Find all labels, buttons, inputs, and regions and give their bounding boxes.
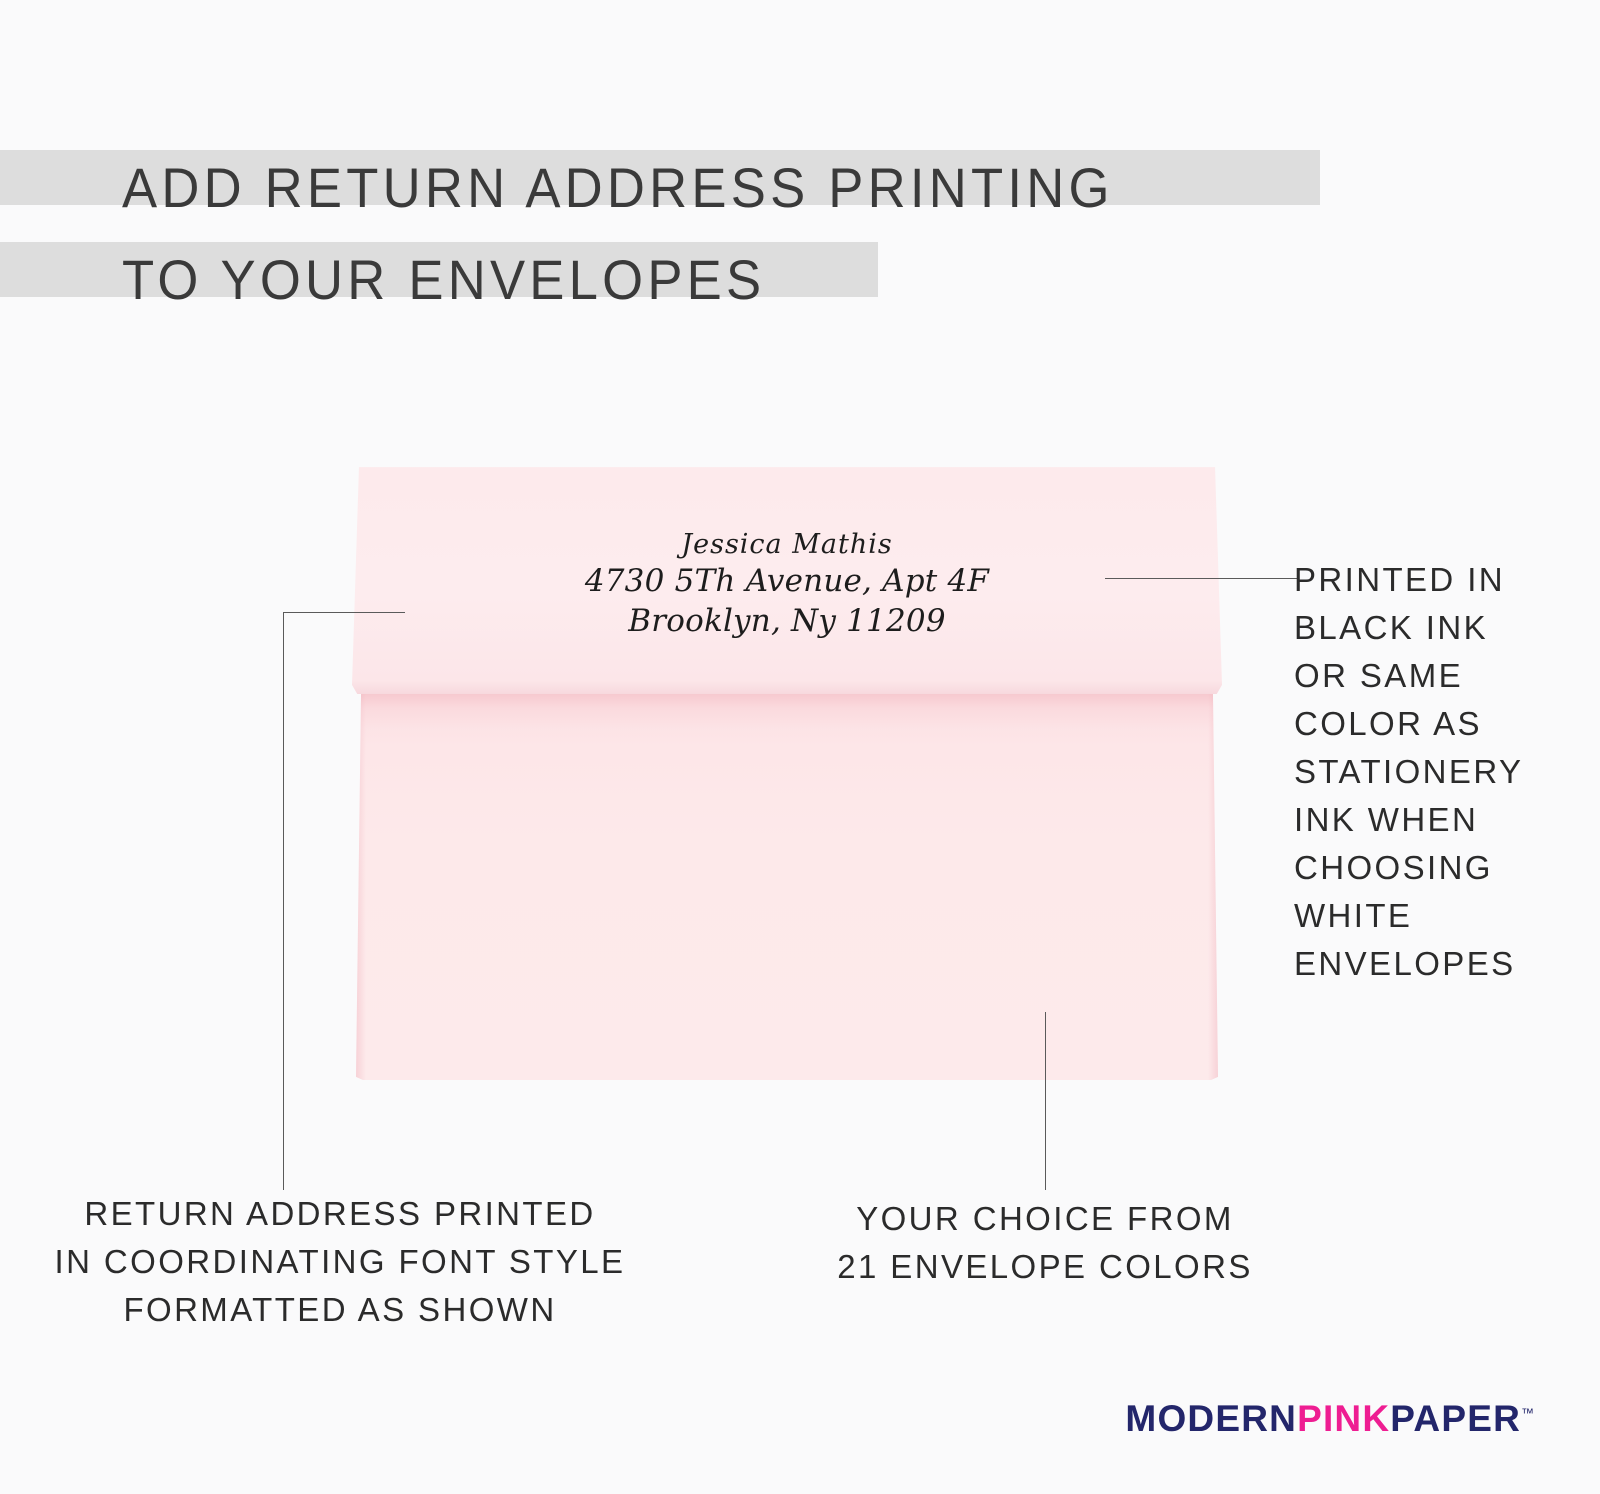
envelope-fold-left [356,684,366,1080]
title-text-line-1: ADD RETURN ADDRESS PRINTING [122,158,1114,218]
annotation-right-line-4: COLOR AS [1294,700,1594,748]
envelope-fold-right [1208,684,1218,1080]
leader-line-left-horizontal [283,612,405,613]
leader-line-right-horizontal [1105,578,1297,579]
annotation-bottom-left-line-3: FORMATTED AS SHOWN [20,1286,660,1334]
leader-line-center-vertical [1045,1012,1046,1190]
annotation-right-line-7: CHOOSING [1294,844,1594,892]
annotation-bottom-center-line-1: YOUR CHOICE FROM [830,1195,1260,1243]
annotation-right-line-6: INK WHEN [1294,796,1594,844]
logo-part-paper: PAPER [1390,1398,1521,1439]
envelope-flap: Jessica Mathis 4730 5Th Avenue, Apt 4F B… [352,466,1222,694]
annotation-font-style: RETURN ADDRESS PRINTED IN COORDINATING F… [20,1190,660,1334]
logo-part-pink: PINK [1297,1398,1390,1439]
annotation-right-line-1: PRINTED IN [1294,556,1594,604]
annotation-right-line-9: ENVELOPES [1294,940,1594,988]
return-address-city-state-zip: Brooklyn, Ny 11209 [352,602,1222,641]
return-address-block: Jessica Mathis 4730 5Th Avenue, Apt 4F B… [352,528,1222,641]
annotation-right-line-8: WHITE [1294,892,1594,940]
title-text-line-2: TO YOUR ENVELOPES [122,250,765,310]
annotation-right-line-2: BLACK INK [1294,604,1594,652]
annotation-ink-color: PRINTED IN BLACK INK OR SAME COLOR AS ST… [1294,556,1594,988]
envelope-product-image: Jessica Mathis 4730 5Th Avenue, Apt 4F B… [352,466,1222,1080]
title-line-1: ADD RETURN ADDRESS PRINTING [0,142,1400,234]
trademark-icon: ™ [1521,1406,1534,1421]
envelope-body [356,684,1218,1080]
annotation-right-line-5: STATIONERY [1294,748,1594,796]
annotation-right-line-3: OR SAME [1294,652,1594,700]
title-line-2: TO YOUR ENVELOPES [0,234,1400,326]
leader-line-left-vertical [283,612,284,1190]
return-address-street: 4730 5Th Avenue, Apt 4F [352,562,1222,601]
annotation-bottom-left-line-2: IN COORDINATING FONT STYLE [20,1238,660,1286]
brand-logo: MODERNPINKPAPER™ [1125,1398,1534,1440]
logo-part-modern: MODERN [1125,1398,1297,1439]
annotation-bottom-left-line-1: RETURN ADDRESS PRINTED [20,1190,660,1238]
annotation-envelope-colors: YOUR CHOICE FROM 21 ENVELOPE COLORS [830,1195,1260,1291]
return-address-name: Jessica Mathis [352,528,1222,562]
page-title: ADD RETURN ADDRESS PRINTING TO YOUR ENVE… [0,142,1400,326]
annotation-bottom-center-line-2: 21 ENVELOPE COLORS [830,1243,1260,1291]
